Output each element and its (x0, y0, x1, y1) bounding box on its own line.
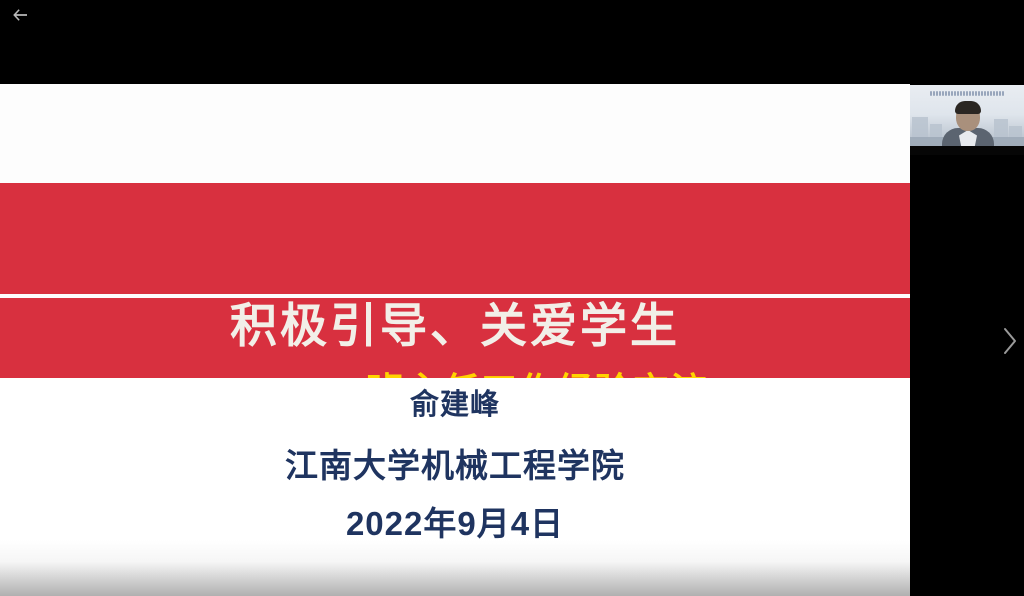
slide-canvas[interactable]: 积极引导、关爱学生 ——班主任工作经验交流 俞建峰 江南大学机械工程学院 202… (0, 84, 910, 596)
backdrop-building (912, 117, 928, 139)
presenter-name: 俞建峰 (0, 387, 910, 423)
player-top-bar (0, 0, 1024, 84)
backdrop-building (994, 119, 1008, 139)
slide-viewer: 积极引导、关爱学生 ——班主任工作经验交流 俞建峰 江南大学机械工程学院 202… (0, 0, 1024, 596)
camera-backdrop-banner-text (918, 90, 1016, 96)
title-banner: 积极引导、关爱学生 ——班主任工作经验交流 (0, 183, 910, 378)
presentation-date: 2022年9月4日 (0, 504, 910, 544)
back-button[interactable] (6, 2, 34, 28)
chevron-right-icon (1002, 326, 1018, 356)
arrow-left-icon (11, 7, 29, 23)
slide-byline-block: 俞建峰 江南大学机械工程学院 2022年9月4日 (0, 378, 910, 596)
camera-letterbox (910, 146, 1024, 155)
next-slide-button[interactable] (995, 322, 1024, 360)
presenter-affiliation: 江南大学机械工程学院 (0, 446, 910, 486)
slide-title: 积极引导、关爱学生 (0, 298, 910, 354)
presenter-camera-feed[interactable] (910, 85, 1024, 155)
slide-header-space (0, 84, 910, 183)
presenter-hair (955, 101, 981, 114)
